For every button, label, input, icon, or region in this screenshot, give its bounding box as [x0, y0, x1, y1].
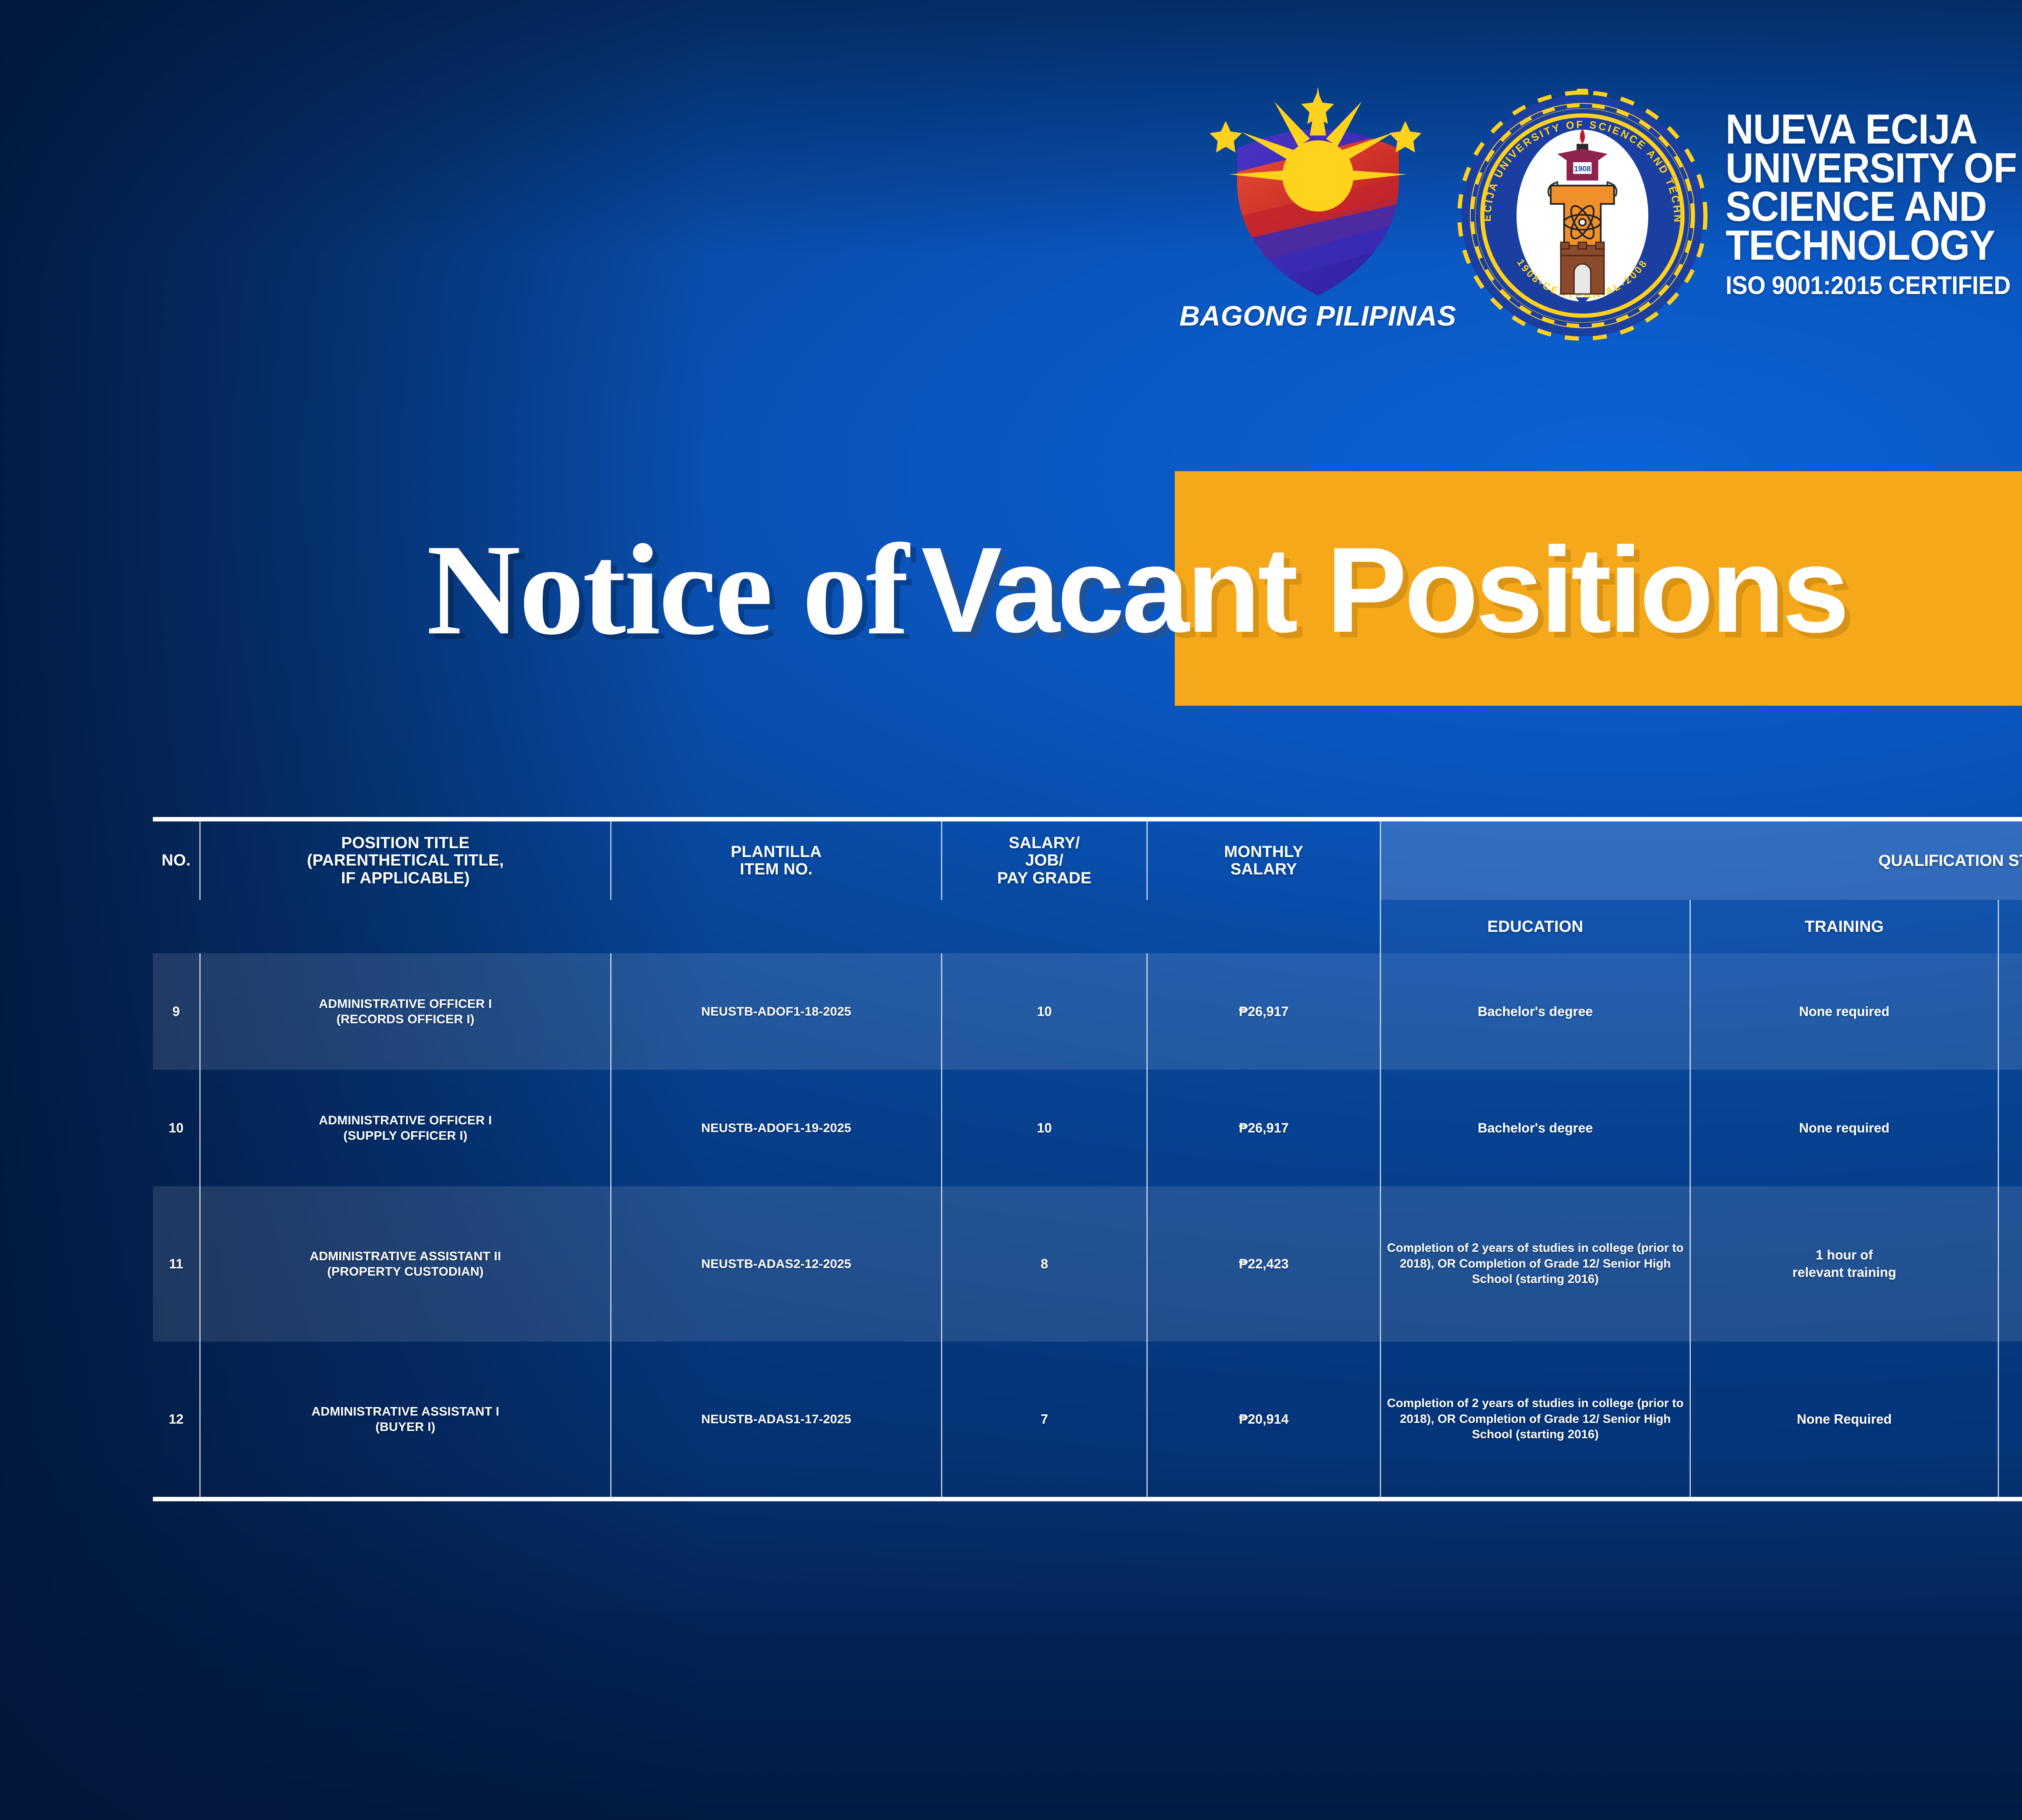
iso-certification-label: ISO 9001:2015 CERTIFIED [1726, 271, 2017, 300]
table-cell-plantilla[interactable]: NEUSTB-ADOF1-18-2025 [610, 953, 941, 1070]
table-row[interactable]: 9 [153, 953, 199, 1070]
position-parenthetical: (BUYER I) [311, 1419, 499, 1435]
monthly-salary-value: ₱26,917 [1239, 1120, 1289, 1137]
vacancy-table: NO. POSITION TITLE (PARENTHETICAL TITLE,… [153, 817, 2022, 1501]
table-cell-plantilla[interactable]: NEUSTB-ADAS1-17-2025 [610, 1342, 941, 1497]
table-cell-pay-grade[interactable]: 10 [941, 1070, 1146, 1186]
table-cell-training[interactable]: None required [1690, 953, 1998, 1070]
table-cell-education[interactable]: Bachelor's degree [1380, 1070, 1690, 1186]
column-header-position-line1: POSITION TITLE [307, 834, 504, 852]
column-header-plantilla: PLANTILLA ITEM NO. [610, 821, 941, 900]
table-cell-experience[interactable]: 1 year of relevant experience [1998, 1186, 2022, 1342]
table-cell-position[interactable]: ADMINISTRATIVE OFFICER I (RECORDS OFFICE… [199, 953, 610, 1070]
pay-grade-value: 10 [1037, 1120, 1052, 1137]
university-name-block: NUEVA ECIJA UNIVERSITY OF SCIENCE AND TE… [1726, 110, 2022, 300]
university-line-2: UNIVERSITY OF [1726, 149, 2017, 188]
column-header-education-label: EDUCATION [1487, 918, 1584, 936]
table-cell-training[interactable]: 1 hour of relevant training [1690, 1186, 1998, 1342]
column-header-monthly-line1: MONTHLY [1224, 843, 1303, 861]
column-header-monthly-line2: SALARY [1224, 861, 1303, 878]
column-header-no: NO. [153, 821, 199, 900]
row-no: 10 [169, 1120, 184, 1137]
table-grid: NO. POSITION TITLE (PARENTHETICAL TITLE,… [153, 821, 2022, 1497]
education-value: Bachelor's degree [1478, 1003, 1593, 1020]
table-cell-experience[interactable]: None Required [1998, 1342, 2022, 1497]
column-header-experience: EXPERIENCE [1998, 900, 2022, 953]
column-header-plantilla-line2: ITEM NO. [731, 861, 822, 878]
bagong-pilipinas-logo-icon [1197, 79, 1439, 305]
table-cell-position[interactable]: ADMINISTRATIVE ASSISTANT I (BUYER I) [199, 1342, 610, 1497]
university-line-4: TECHNOLOGY [1726, 226, 2017, 265]
training-line1: 1 hour of [1792, 1246, 1896, 1264]
row-no: 11 [169, 1255, 183, 1273]
plantilla-item-no: NEUSTB-ADOF1-19-2025 [701, 1120, 851, 1136]
table-cell-monthly-salary[interactable]: ₱20,914 [1146, 1342, 1380, 1497]
table-cell-training[interactable]: None required [1690, 1070, 1998, 1186]
position-title: ADMINISTRATIVE OFFICER I [319, 996, 492, 1012]
university-line-3: SCIENCE AND [1726, 188, 2017, 226]
column-header-position-title: POSITION TITLE (PARENTHETICAL TITLE, IF … [199, 821, 610, 900]
column-header-position-line2: (PARENTHETICAL TITLE, [307, 852, 504, 869]
table-cell-pay-grade[interactable]: 10 [941, 953, 1146, 1070]
position-parenthetical: (RECORDS OFFICER I) [319, 1012, 492, 1027]
table-cell-training[interactable]: None Required [1690, 1342, 1998, 1497]
plantilla-item-no: NEUSTB-ADAS1-17-2025 [701, 1412, 851, 1427]
position-parenthetical: (PROPERTY CUSTODIAN) [310, 1264, 501, 1279]
pay-grade-value: 10 [1037, 1003, 1052, 1020]
education-value: Completion of 2 years of studies in coll… [1386, 1240, 1685, 1287]
plantilla-item-no: NEUSTB-ADOF1-18-2025 [701, 1004, 851, 1019]
position-title: ADMINISTRATIVE ASSISTANT I [311, 1404, 499, 1419]
monthly-salary-value: ₱22,423 [1239, 1255, 1289, 1273]
training-value: None required [1799, 1120, 1890, 1137]
table-cell-pay-grade[interactable]: 8 [941, 1186, 1146, 1342]
education-value: Bachelor's degree [1478, 1120, 1593, 1137]
table-cell-position[interactable]: ADMINISTRATIVE ASSISTANT II (PROPERTY CU… [199, 1186, 610, 1342]
table-cell-education[interactable]: Bachelor's degree [1380, 953, 1690, 1070]
table-cell-plantilla[interactable]: NEUSTB-ADOF1-19-2025 [610, 1070, 941, 1186]
column-header-education: EDUCATION [1380, 900, 1690, 953]
row-no: 12 [169, 1411, 184, 1428]
education-value: Completion of 2 years of studies in coll… [1386, 1396, 1685, 1442]
column-header-pay-grade: SALARY/ JOB/ PAY GRADE [941, 821, 1146, 900]
table-row[interactable]: 10 [153, 1070, 199, 1186]
training-line2: relevant training [1792, 1264, 1896, 1281]
training-value: None Required [1797, 1411, 1892, 1428]
header: BAGONG PILIPINAS NUEVA [0, 79, 2022, 349]
neust-seal-icon: NUEVA ECIJA UNIVERSITY OF SCIENCE AND TE… [1457, 82, 1708, 349]
table-cell-experience[interactable]: None required [1998, 953, 2022, 1070]
table-row[interactable]: 12 [153, 1342, 199, 1497]
column-header-monthly-salary: MONTHLY SALARY [1146, 821, 1380, 900]
table-cell-plantilla[interactable]: NEUSTB-ADAS2-12-2025 [610, 1186, 941, 1342]
bagong-pilipinas-block: BAGONG PILIPINAS [1193, 79, 1443, 332]
plantilla-item-no: NEUSTB-ADAS2-12-2025 [701, 1256, 851, 1272]
position-title: ADMINISTRATIVE OFFICER I [319, 1113, 492, 1128]
page-title-part-two: Vacant Positions [921, 529, 1847, 650]
column-header-training: TRAINING [1690, 900, 1998, 953]
bagong-pilipinas-label: BAGONG PILIPINAS [1179, 300, 1456, 332]
column-header-no-label: NO. [161, 852, 190, 869]
table-cell-pay-grade[interactable]: 7 [941, 1342, 1146, 1497]
column-header-qualification-standards: QUALIFICATION STANDARDS [1380, 821, 2022, 900]
svg-text:1908: 1908 [1574, 165, 1591, 173]
table-cell-position[interactable]: ADMINISTRATIVE OFFICER I (SUPPLY OFFICER… [199, 1070, 610, 1186]
position-title: ADMINISTRATIVE ASSISTANT II [310, 1249, 501, 1264]
column-header-pay-grade-line2: JOB/ [997, 852, 1091, 869]
table-cell-monthly-salary[interactable]: ₱26,917 [1146, 1070, 1380, 1186]
column-header-pay-grade-line3: PAY GRADE [997, 870, 1091, 887]
pay-grade-value: 8 [1041, 1255, 1048, 1273]
table-bottom-rule [153, 1497, 2022, 1501]
table-cell-monthly-salary[interactable]: ₱22,423 [1146, 1186, 1380, 1342]
column-header-plantilla-line1: PLANTILLA [731, 843, 822, 861]
table-cell-experience[interactable]: None required [1998, 1070, 2022, 1186]
university-line-1: NUEVA ECIJA [1726, 110, 2017, 149]
column-header-pay-grade-line1: SALARY/ [997, 834, 1091, 852]
page-title-part-one: Notice of [427, 525, 907, 655]
column-header-training-label: TRAINING [1805, 918, 1884, 936]
position-parenthetical: (SUPPLY OFFICER I) [319, 1128, 492, 1143]
qualification-standards-label: QUALIFICATION STANDARDS [1878, 852, 2022, 870]
row-no: 9 [172, 1003, 180, 1020]
pay-grade-value: 7 [1041, 1411, 1048, 1428]
column-header-position-line3: IF APPLICABLE) [307, 870, 504, 887]
monthly-salary-value: ₱26,917 [1239, 1003, 1289, 1020]
page-title: Notice of Vacant Positions [427, 476, 2022, 703]
table-cell-monthly-salary[interactable]: ₱26,917 [1146, 953, 1380, 1070]
training-value: None required [1799, 1003, 1890, 1020]
table-cell-education[interactable]: Completion of 2 years of studies in coll… [1380, 1186, 1690, 1342]
table-top-rule [153, 817, 2022, 821]
table-row[interactable]: 11 [153, 1186, 199, 1342]
table-cell-education[interactable]: Completion of 2 years of studies in coll… [1380, 1342, 1690, 1497]
monthly-salary-value: ₱20,914 [1239, 1411, 1289, 1428]
